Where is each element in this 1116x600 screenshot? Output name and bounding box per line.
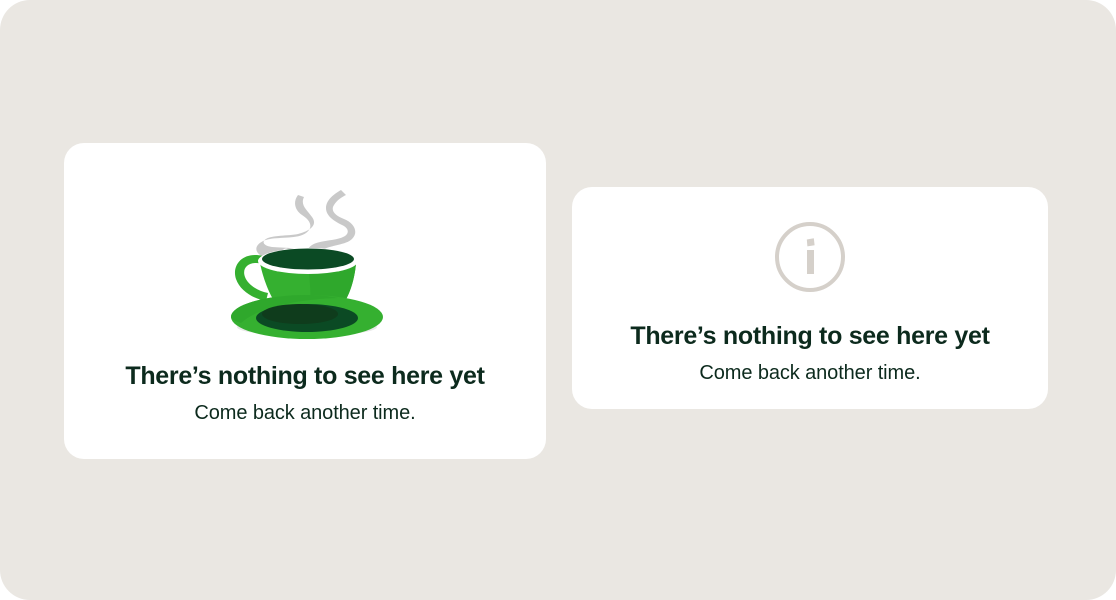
coffee-cup-illustration xyxy=(210,181,400,341)
empty-state-text-coffee: There’s nothing to see here yet Come bac… xyxy=(64,363,546,425)
page-title: There’s nothing to see here yet xyxy=(64,363,546,391)
page-subtitle: Come back another time. xyxy=(572,361,1048,385)
page-title: There’s nothing to see here yet xyxy=(572,323,1048,351)
empty-state-card-info: There’s nothing to see here yet Come bac… xyxy=(572,187,1048,409)
empty-state-card-coffee: There’s nothing to see here yet Come bac… xyxy=(64,143,546,459)
page-subtitle: Come back another time. xyxy=(64,401,546,425)
empty-state-text-info: There’s nothing to see here yet Come bac… xyxy=(572,323,1048,385)
page-root: There’s nothing to see here yet Come bac… xyxy=(0,0,1116,600)
coffee-surface xyxy=(258,248,358,274)
cup-saucer xyxy=(231,295,383,339)
info-circle-icon xyxy=(772,219,848,295)
